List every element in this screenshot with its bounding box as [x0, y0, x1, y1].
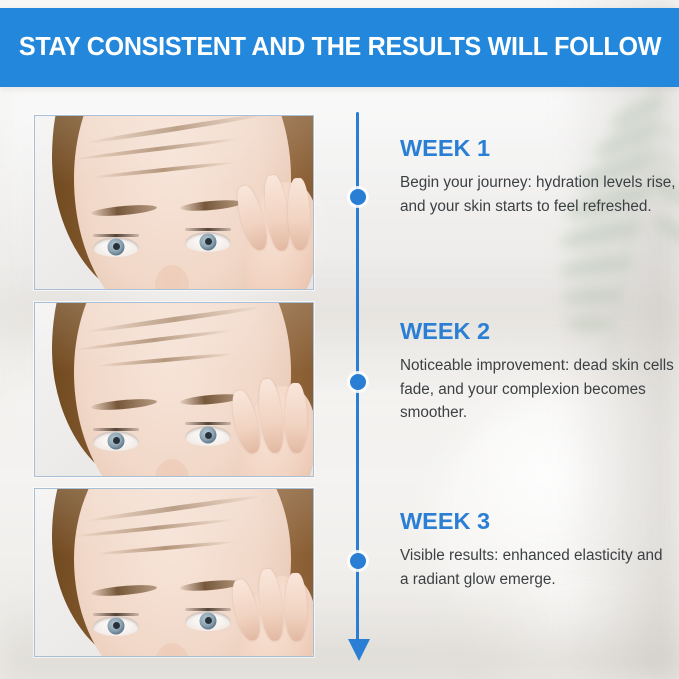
- timeline-dot-week-1: [350, 189, 366, 205]
- timeline-dot-week-2: [350, 374, 366, 390]
- step-block-week-2: WEEK 2 Noticeable improvement: dead skin…: [400, 318, 676, 425]
- step-block-week-1: WEEK 1 Begin your journey: hydration lev…: [400, 135, 676, 218]
- photo-frame-week-1: [34, 115, 314, 290]
- step-title-week-3: WEEK 3: [400, 508, 676, 535]
- timeline-arrow-down-icon: [348, 639, 370, 661]
- step-body-week-2: Noticeable improvement: dead skin cells …: [400, 354, 676, 425]
- step-block-week-3: WEEK 3 Visible results: enhanced elastic…: [400, 508, 676, 591]
- timeline: [350, 112, 366, 664]
- infographic-canvas: STAY CONSISTENT AND THE RESULTS WILL FOL…: [0, 0, 679, 679]
- photo-sheen: [35, 303, 313, 476]
- page-title: STAY CONSISTENT AND THE RESULTS WILL FOL…: [18, 33, 660, 62]
- photo-frame-week-2: [34, 302, 314, 477]
- photo-frame-week-3: [34, 488, 314, 657]
- step-body-week-3: Visible results: enhanced elasticity and…: [400, 544, 672, 591]
- header-banner: STAY CONSISTENT AND THE RESULTS WILL FOL…: [0, 8, 679, 87]
- step-title-week-1: WEEK 1: [400, 135, 676, 162]
- step-body-week-1: Begin your journey: hydration levels ris…: [400, 171, 676, 218]
- step-title-week-2: WEEK 2: [400, 318, 676, 345]
- photo-image-week-2: [35, 303, 313, 476]
- timeline-dot-week-3: [350, 553, 366, 569]
- photo-sheen: [35, 116, 313, 289]
- photo-image-week-1: [35, 116, 313, 289]
- photo-sheen: [35, 489, 313, 656]
- photo-image-week-3: [35, 489, 313, 656]
